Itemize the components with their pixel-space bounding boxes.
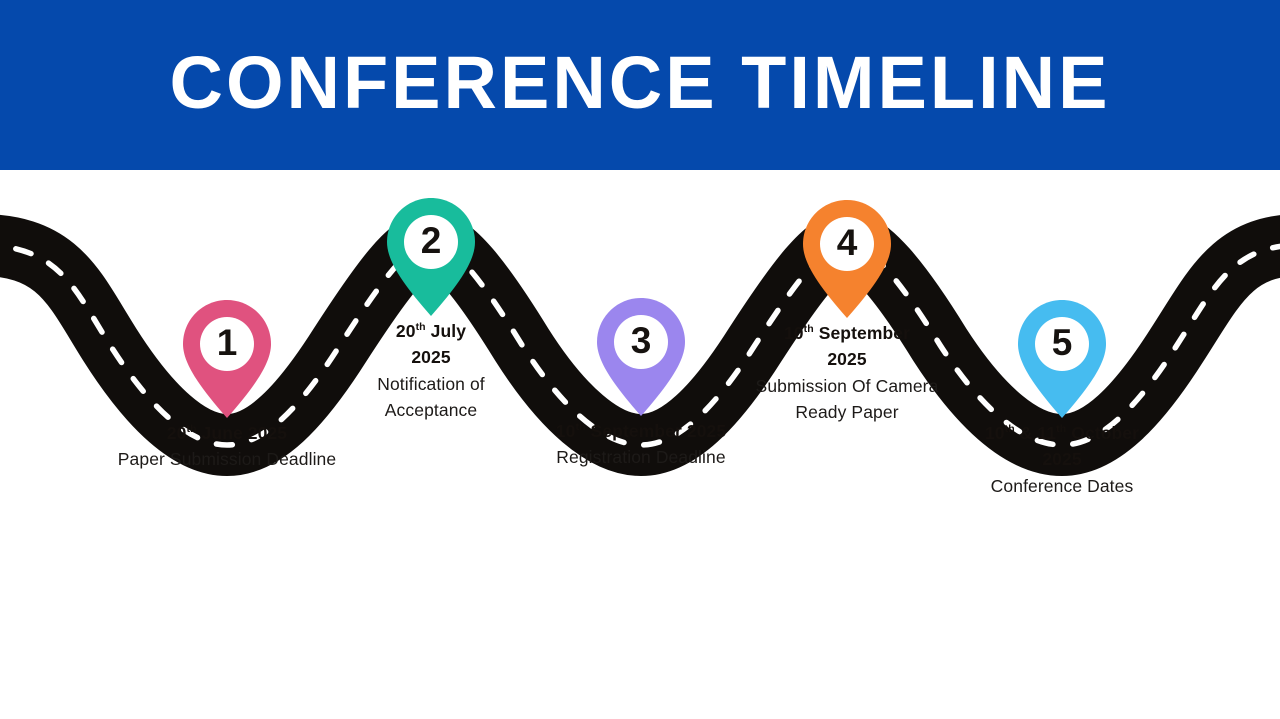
milestone-5-date-mid: & 11 [1015,423,1056,443]
map-pin-icon[interactable]: 2 [387,198,475,316]
milestone-2-date-year: 2025 [331,344,531,370]
milestone-5-date-ordinal2: th [1056,423,1066,435]
milestone-5-date-prefix: 10 [985,423,1005,443]
milestone-3-text: 10th September 2025 Registration Deadlin… [491,418,791,471]
map-pin-icon[interactable]: 1 [183,300,271,418]
milestone-3-pin-wrap: 3 [526,298,756,416]
map-pin-icon[interactable]: 5 [1018,300,1106,418]
milestone-1-date-ordinal: th [187,423,197,435]
milestone-5[interactable]: 5 10th & 11th October 2025 Conference Da… [947,300,1177,499]
milestone-1-date-prefix: 20 [167,423,187,443]
milestone-5-number: 5 [1018,300,1106,388]
milestone-2-number: 2 [387,198,475,286]
header-banner: CONFERENCE TIMELINE [0,0,1280,170]
milestone-5-date: 10th & 11th October [922,420,1202,446]
milestone-4-pin-wrap: 4 [732,200,962,318]
milestone-4-text: 10th September 2025 Submission Of Camera… [732,320,962,426]
milestone-4-number: 4 [803,200,891,288]
milestone-5-pin-wrap: 5 [947,300,1177,418]
milestone-5-date-year: 2025 [922,446,1202,472]
milestone-2-date-prefix: 20 [396,321,416,341]
milestone-4-date-ordinal: th [804,323,814,335]
milestone-1-description: Paper Submission Deadline [97,446,357,473]
milestone-2-date-rest: July [426,321,466,341]
milestone-5-text: 10th & 11th October 2025 Conference Date… [922,420,1202,499]
milestone-5-date-ordinal: th [1005,423,1015,435]
milestone-3-date-prefix: 10 [556,421,576,441]
milestone-2[interactable]: 2 20th July 2025 Notification of Accepta… [316,198,546,424]
milestone-1-date: 20th June 2025 [97,420,357,446]
milestone-1[interactable]: 1 20th June 2025 Paper Submission Deadli… [112,300,342,473]
milestone-2-description: Notification of Acceptance [331,371,531,424]
page-title: CONFERENCE TIMELINE [170,46,1111,120]
milestone-3-description: Registration Deadline [491,444,791,471]
milestone-4-date-rest: September [814,323,910,343]
milestone-3[interactable]: 3 10th September 2025 Registration Deadl… [526,298,756,471]
milestone-4-date-year: 2025 [732,346,962,372]
milestone-4-description: Submission Of Camera Ready Paper [732,373,962,426]
milestone-4-date-prefix: 10 [784,323,804,343]
milestone-1-date-rest: June 2025 [197,423,288,443]
map-pin-icon[interactable]: 3 [597,298,685,416]
milestone-5-description: Conference Dates [922,473,1202,500]
milestone-4-date: 10th September [732,320,962,346]
milestone-4[interactable]: 4 10th September 2025 Submission Of Came… [732,200,962,426]
milestone-2-date: 20th July [331,318,531,344]
milestone-1-number: 1 [183,300,271,388]
milestone-2-pin-wrap: 2 [316,198,546,316]
timeline-road-stage: 1 20th June 2025 Paper Submission Deadli… [0,170,1280,719]
milestone-2-text: 20th July 2025 Notification of Acceptanc… [331,318,531,424]
map-pin-icon[interactable]: 4 [803,200,891,318]
milestone-1-text: 20th June 2025 Paper Submission Deadline [97,420,357,473]
milestone-3-date-rest: September 2025 [586,421,727,441]
milestone-5-date-rest: October [1066,423,1139,443]
milestone-2-date-ordinal: th [416,321,426,333]
milestone-1-pin-wrap: 1 [112,300,342,418]
milestone-3-number: 3 [597,298,685,386]
milestone-3-date-ordinal: th [575,421,585,433]
